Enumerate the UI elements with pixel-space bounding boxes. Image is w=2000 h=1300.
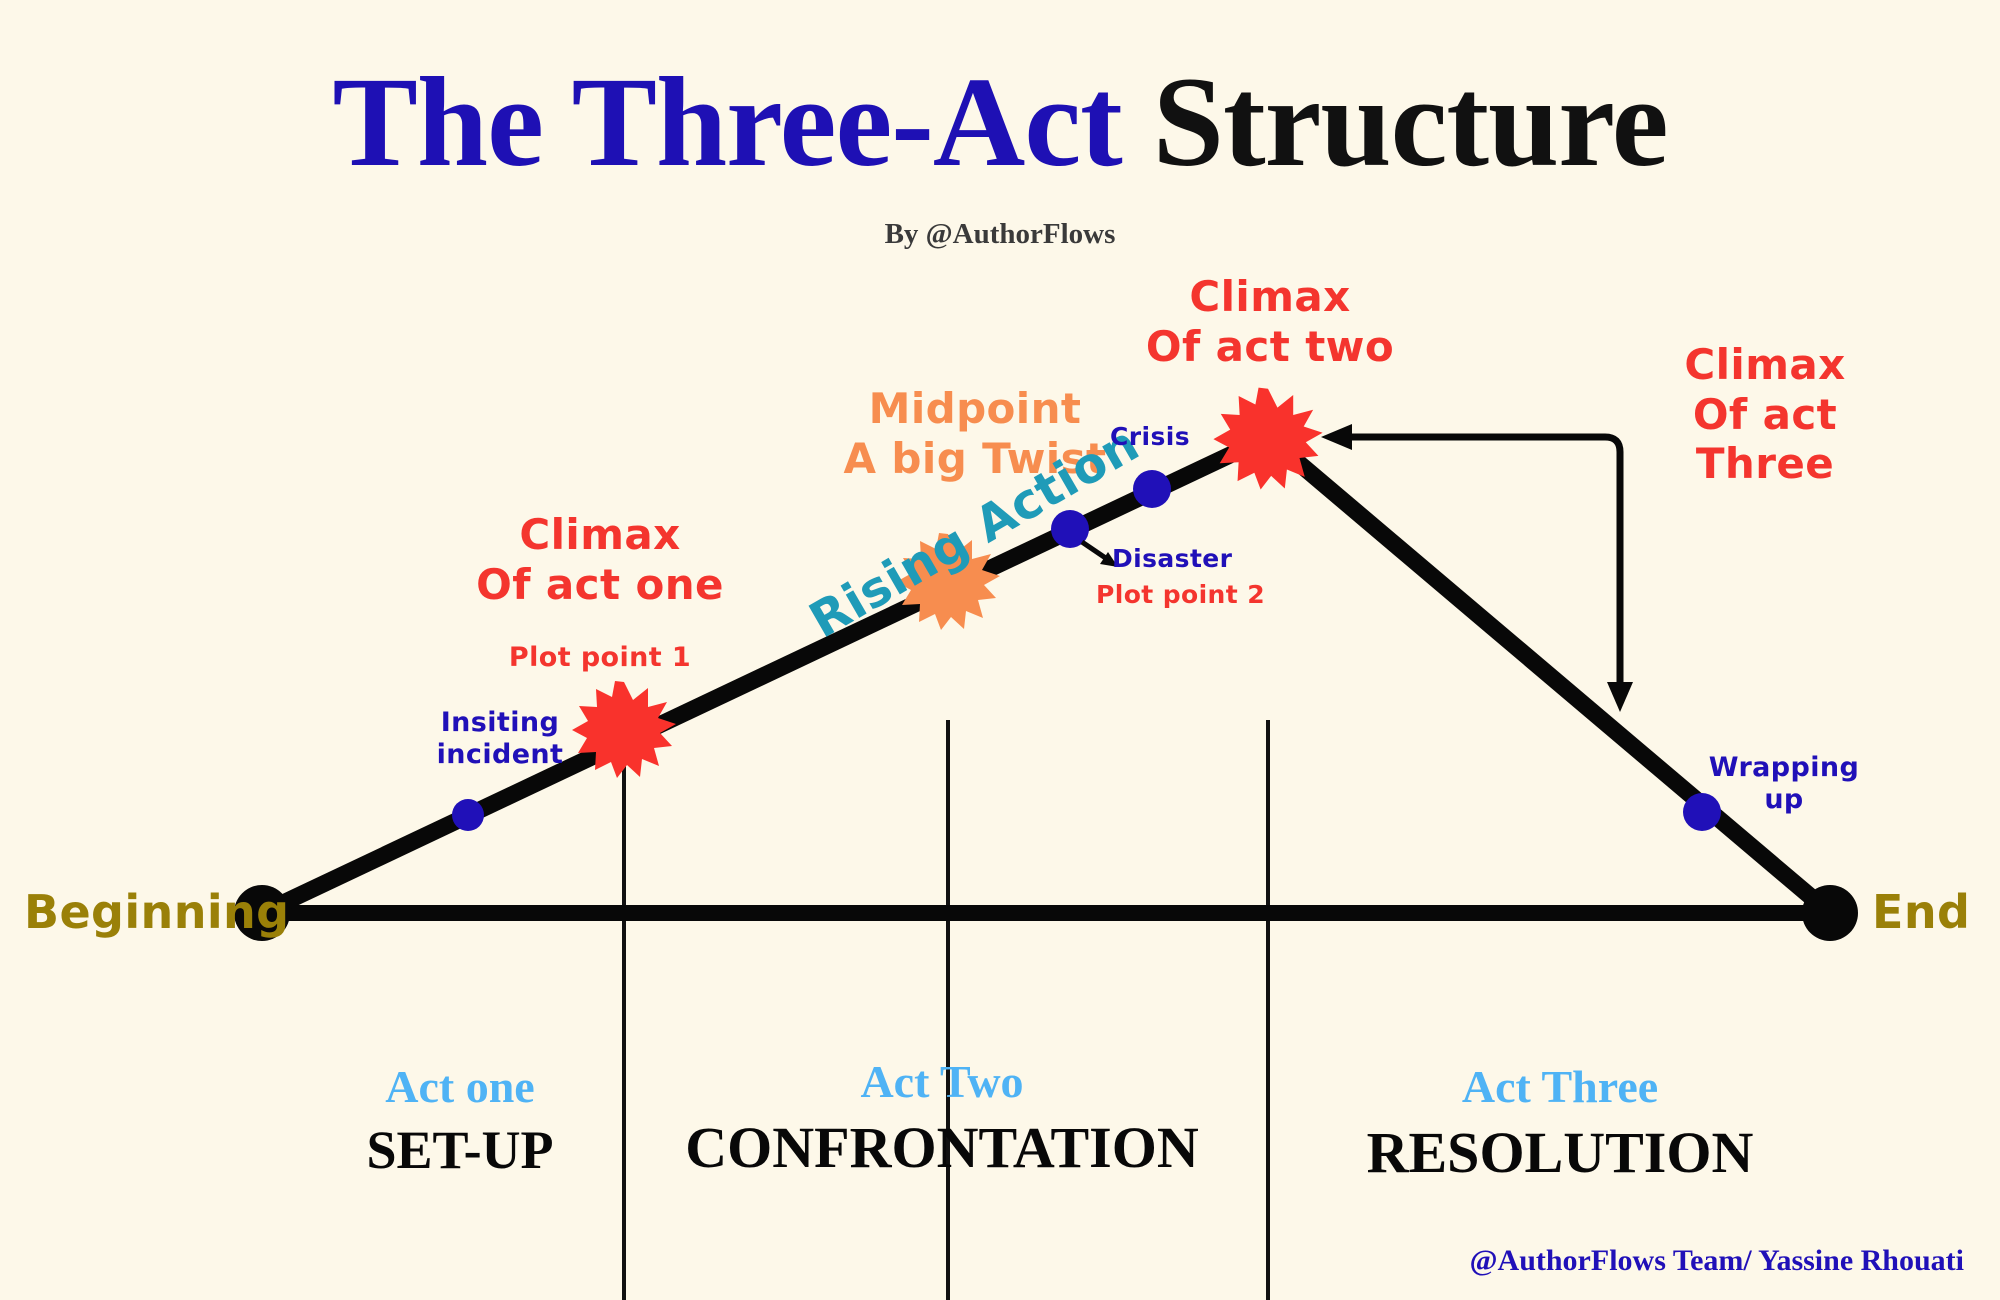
plot-point-1-label: Plot point 1 [470,642,730,674]
act-three-name: Act Three [1310,1060,1810,1113]
crisis-label: Crisis [1080,422,1220,452]
infographic-canvas: The Three-Act Structure By @AuthorFlows [0,0,2000,1300]
climax-act-two-label: Climax Of act two [1110,272,1430,371]
falling-action-line [1268,437,1830,913]
act-two-block: Act Two CONFRONTATION [672,1055,1212,1181]
climax-act-three-arrowhead-left [1321,424,1352,450]
end-endpoint-dot [1802,885,1858,941]
rising-action-line [262,437,1268,913]
disaster-label: Disaster [1112,544,1232,574]
inciting-incident-label: Insiting incident [400,707,600,771]
act-two-name: Act Two [672,1055,1212,1108]
climax-act-three-bracket-arrow [1330,437,1620,690]
climax-act-one-label: Climax Of act one [440,510,760,609]
inciting-incident-dot [452,799,484,831]
end-label: End [1872,885,1970,939]
wrapping-up-label: Wrapping up [1684,752,1884,816]
act-one-block: Act one SET-UP [260,1060,660,1181]
climax-act-three-label: Climax Of act Three [1640,340,1890,489]
act-three-subtitle: RESOLUTION [1310,1119,1810,1186]
climax-act-three-arrowhead [1607,682,1633,712]
beginning-label: Beginning [24,885,290,939]
act-one-subtitle: SET-UP [260,1119,660,1181]
footer-credit: @AuthorFlows Team/ Yassine Rhouati [1470,1244,1964,1278]
act-one-name: Act one [260,1060,660,1113]
act-two-subtitle: CONFRONTATION [672,1114,1212,1181]
act-three-block: Act Three RESOLUTION [1310,1060,1810,1186]
plot-point-2-label: Plot point 2 [1096,580,1265,610]
